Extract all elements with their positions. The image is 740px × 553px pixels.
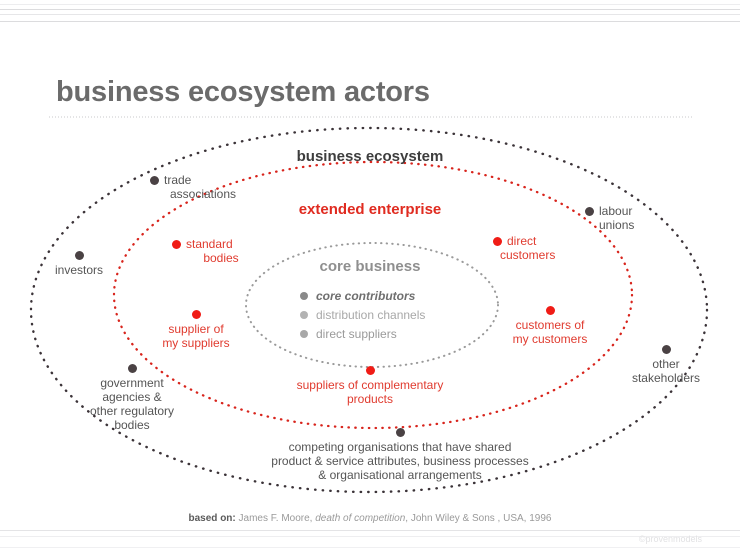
actor-suppliers-complementary-products: suppliers of complementary products bbox=[275, 366, 465, 406]
core-list-item: core contributors bbox=[300, 286, 510, 305]
actor-label-line2: associations bbox=[144, 187, 262, 201]
actor-label-line1: customers of bbox=[494, 318, 606, 332]
actor-other-stakeholders: other stakeholders bbox=[615, 345, 717, 385]
actor-label-line1: trade bbox=[164, 173, 191, 187]
actor-dot-icon bbox=[172, 240, 181, 249]
core-business-list: core contributors distribution channels … bbox=[300, 286, 510, 343]
actor-direct-customers: direct customers bbox=[493, 234, 593, 262]
actor-standard-bodies: standard bodies bbox=[172, 237, 282, 265]
actor-label-line1: suppliers of complementary bbox=[275, 378, 465, 392]
actor-supplier-of-my-suppliers: supplier of my suppliers bbox=[140, 310, 252, 350]
actor-label-line1: supplier of bbox=[140, 322, 252, 336]
actor-label-line4: bodies bbox=[78, 418, 186, 432]
actor-label-line2: bodies bbox=[168, 251, 274, 265]
actor-dot-icon bbox=[128, 364, 137, 373]
actor-label-line3: & organisational arrangements bbox=[255, 468, 545, 482]
actor-label-line2: products bbox=[275, 392, 465, 406]
actor-label-line2: my customers bbox=[494, 332, 606, 346]
core-list-item: distribution channels bbox=[300, 305, 510, 324]
actor-dot-icon bbox=[366, 366, 375, 375]
actor-customers-of-my-customers: customers of my customers bbox=[494, 306, 606, 346]
actor-label-line1: standard bbox=[186, 237, 233, 251]
source-publisher: , John Wiley & Sons , USA, 1996 bbox=[405, 513, 551, 524]
actor-label-line1: competing organisations that have shared bbox=[255, 440, 545, 454]
footer-decorative-rules bbox=[0, 530, 740, 553]
bullet-dot-icon bbox=[300, 311, 308, 319]
actor-dot-icon bbox=[192, 310, 201, 319]
actor-dot-icon bbox=[75, 251, 84, 260]
source-author: James F. Moore, bbox=[239, 513, 313, 524]
actor-labour-unions: labour unions bbox=[585, 204, 680, 232]
core-list-item-label: direct suppliers bbox=[316, 327, 397, 341]
actor-label-line3: other regulatory bbox=[78, 404, 186, 418]
core-list-item-label: core contributors bbox=[316, 289, 415, 303]
footer-rule-3 bbox=[0, 547, 740, 548]
actor-dot-icon bbox=[396, 428, 405, 437]
actor-label-line1: labour bbox=[599, 204, 632, 218]
core-list-item: direct suppliers bbox=[300, 324, 510, 343]
actor-competing-organisations: competing organisations that have shared… bbox=[255, 428, 545, 482]
actor-label-line2: product & service attributes, business p… bbox=[255, 454, 545, 468]
actor-government-agencies: government agencies & other regulatory b… bbox=[78, 364, 186, 432]
actor-label-line2: agencies & bbox=[78, 390, 186, 404]
ecosystem-diagram: business ecosystem extended enterprise c… bbox=[0, 0, 740, 553]
footer-rule-2 bbox=[0, 536, 740, 537]
actor-dot-icon bbox=[493, 237, 502, 246]
actor-dot-icon bbox=[546, 306, 555, 315]
ring-label-business-ecosystem: business ecosystem bbox=[0, 148, 740, 165]
actor-dot-icon bbox=[585, 207, 594, 216]
source-citation: based on: James F. Moore, death of compe… bbox=[0, 513, 740, 524]
watermark: ©provenmodels bbox=[639, 534, 702, 544]
actor-label-line2: unions bbox=[599, 218, 680, 232]
core-list-item-label: distribution channels bbox=[316, 308, 425, 322]
bullet-dot-icon bbox=[300, 330, 308, 338]
source-prefix: based on: bbox=[189, 513, 236, 524]
actor-label-line2: customers bbox=[500, 248, 593, 262]
actor-label-line2: stakeholders bbox=[615, 371, 717, 385]
actor-label-line1: government bbox=[78, 376, 186, 390]
actor-label-line1: other bbox=[615, 357, 717, 371]
actor-label-line2: my suppliers bbox=[140, 336, 252, 350]
actor-trade-associations: trade associations bbox=[150, 173, 270, 201]
actor-investors: investors bbox=[34, 251, 124, 277]
source-work: death of competition bbox=[315, 513, 405, 524]
bullet-dot-icon bbox=[300, 292, 308, 300]
footer-rule-1 bbox=[0, 530, 740, 531]
actor-label-line1: investors bbox=[34, 263, 124, 277]
actor-dot-icon bbox=[662, 345, 671, 354]
actor-label-line1: direct bbox=[507, 234, 536, 248]
actor-dot-icon bbox=[150, 176, 159, 185]
